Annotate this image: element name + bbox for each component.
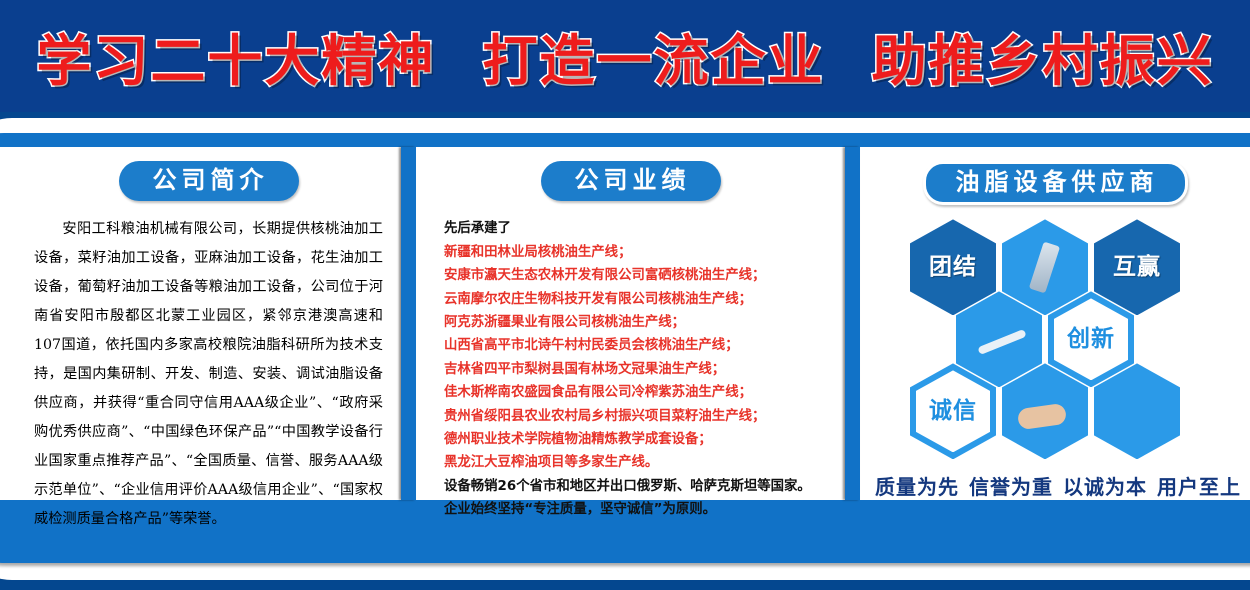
- achievement-item: 德州职业技术学院植物油精炼教学成套设备；: [444, 428, 825, 451]
- mid-title-wrap: 公司业绩: [430, 161, 831, 201]
- hex-label: 创新: [1067, 328, 1115, 351]
- slogan-phrase: 用户至上: [1157, 475, 1241, 499]
- achievement-footer-line: 设备畅销26个省市和地区并出口俄罗斯、哈萨克斯坦等国家。: [444, 475, 825, 498]
- slogan-phrase: 以诚为本: [1063, 475, 1147, 499]
- company-intro-text: 安阳工科粮油机械有限公司，长期提供核桃油加工设备，菜籽油加工设备，亚麻油加工设备…: [34, 215, 383, 534]
- achievement-item: 吉林省四平市梨树县国有林场文冠果油生产线；: [444, 358, 825, 381]
- headline-part-2: 打造一流企业: [482, 29, 824, 93]
- section-title-company-intro: 公司简介: [119, 161, 299, 201]
- handshake-icon: [1006, 368, 1084, 455]
- poster-board: 学习二十大精神 打造一流企业 助推乡村振兴 公司简介 安阳工科粮油机械有限公司，…: [0, 0, 1250, 590]
- achievement-item: 新疆和田林业局核桃油生产线；: [444, 241, 825, 264]
- panel-company-achievements: 公司业绩 先后承建了 新疆和田林业局核桃油生产线；安康市瀛天生态农林开发有限公司…: [416, 147, 845, 500]
- panel-supplier: 油脂设备供应商 团结 互赢 创新: [860, 147, 1250, 500]
- achievements-body: 先后承建了 新疆和田林业局核桃油生产线；安康市瀛天生态农林开发有限公司富硒核桃油…: [444, 217, 825, 521]
- right-title-wrap: 油脂设备供应商: [870, 161, 1240, 205]
- section-title-company-achievements: 公司业绩: [541, 161, 721, 201]
- company-slogan: 质量为先信誉为重以诚为本用户至上: [870, 471, 1240, 500]
- slogan-phrase: 质量为先: [875, 475, 959, 499]
- achievement-item: 佳木斯桦南农盛园食品有限公司冷榨紫苏油生产线；: [444, 381, 825, 404]
- panel-divider-right: [845, 147, 860, 500]
- hex-label: 互赢: [1113, 256, 1161, 279]
- achievement-footer-line: 企业始终坚持“专注质量，坚守诚信”为原则。: [444, 498, 825, 521]
- hex-inner: 诚信: [916, 370, 990, 452]
- achievements-lead: 先后承建了: [444, 217, 825, 240]
- hex-label: 诚信: [929, 400, 977, 423]
- achievements-project-list: 新疆和田林业局核桃油生产线；安康市瀛天生态农林开发有限公司富硒核桃油生产线；云南…: [444, 241, 825, 475]
- panel-company-intro: 公司简介 安阳工科粮油机械有限公司，长期提供核桃油加工设备，菜籽油加工设备，亚麻…: [16, 147, 401, 500]
- section-title-supplier: 油脂设备供应商: [923, 161, 1188, 205]
- hex-inner: 创新: [1054, 298, 1128, 380]
- slogan-phrase: 信誉为重: [969, 475, 1053, 499]
- headline-part-1: 学习二十大精神: [36, 29, 435, 93]
- aircraft-carrier-icon: [1006, 224, 1084, 311]
- achievement-item: 安康市瀛天生态农林开发有限公司富硒核桃油生产线；: [444, 264, 825, 287]
- headline: 学习二十大精神 打造一流企业 助推乡村振兴: [23, 16, 1226, 96]
- left-title-wrap: 公司简介: [30, 161, 387, 201]
- rocket-launch-icon: [960, 296, 1038, 383]
- headline-band: 学习二十大精神 打造一流企业 助推乡村振兴: [0, 0, 1250, 112]
- achievement-item: 阿克苏浙疆果业有限公司核桃油生产线；: [444, 311, 825, 334]
- panel-divider-left: [401, 147, 416, 500]
- achievement-item: 山西省高平市北诗午村村民委员会核桃油生产线；: [444, 334, 825, 357]
- achievement-item: 云南摩尔农庄生物科技开发有限公司核桃油生产线；: [444, 288, 825, 311]
- hex-label: 团结: [929, 256, 977, 279]
- achievement-item: 黑龙江大豆榨油项目等多家生产线。: [444, 451, 825, 474]
- skyscraper-icon: [1098, 368, 1176, 455]
- values-honeycomb: 团结 互赢 创新 诚信: [870, 215, 1240, 455]
- achievements-footer: 设备畅销26个省市和地区并出口俄罗斯、哈萨克斯坦等国家。企业始终坚持“专注质量，…: [444, 475, 825, 522]
- achievement-item: 贵州省绥阳县农业农村局乡村振兴项目菜籽油生产线；: [444, 405, 825, 428]
- headline-part-3: 助推乡村振兴: [872, 29, 1214, 93]
